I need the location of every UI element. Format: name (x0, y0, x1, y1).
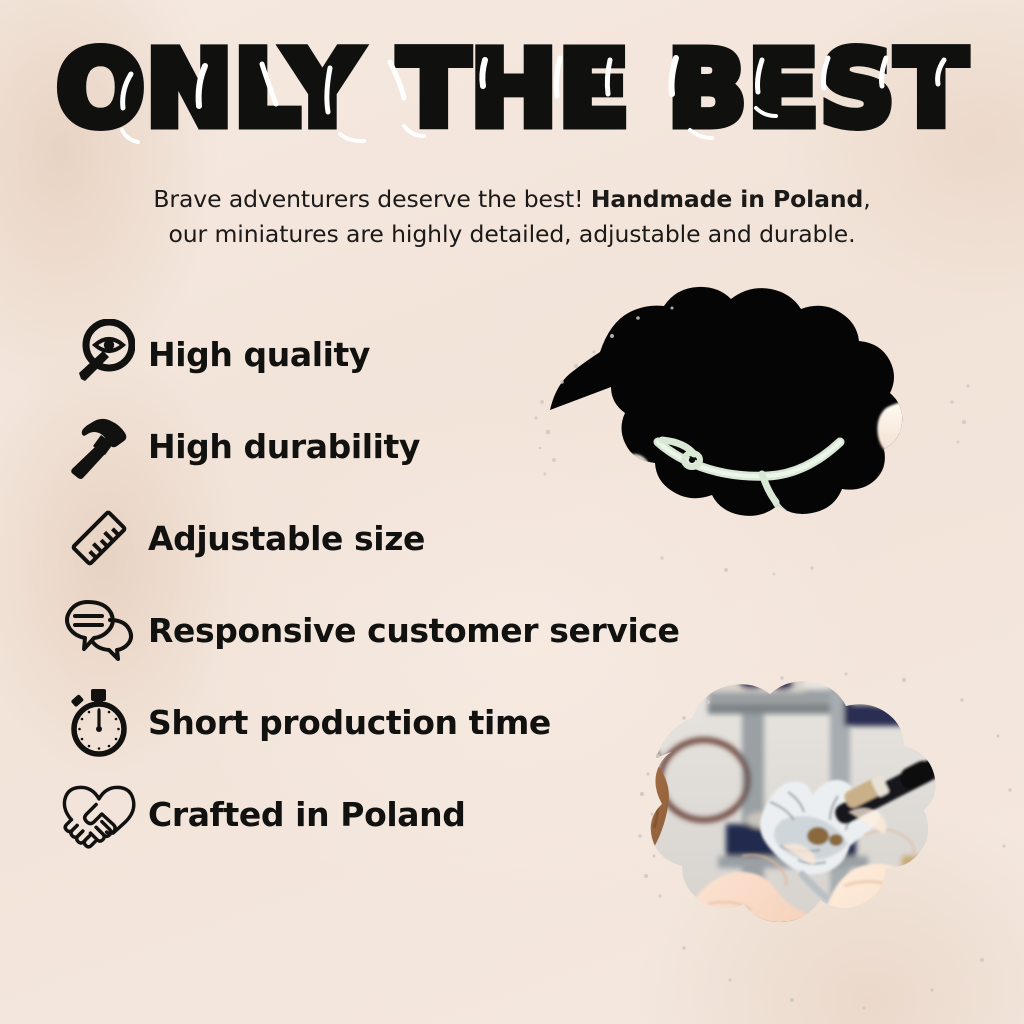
ruler-icon (60, 500, 138, 576)
feature-label: Crafted in Poland (148, 795, 465, 834)
feature-label: Adjustable size (148, 519, 425, 558)
stopwatch-icon (60, 684, 138, 760)
feature-label: High durability (148, 427, 420, 466)
magnifier-eye-icon (60, 316, 138, 392)
speech-bubbles-icon (60, 592, 138, 668)
subtitle-plain-1: Brave adventurers deserve the best! (153, 185, 590, 213)
subtitle: Brave adventurers deserve the best! Hand… (0, 182, 1024, 252)
subtitle-line-2: our miniatures are highly detailed, adju… (0, 217, 1024, 252)
subtitle-comma: , (863, 185, 870, 213)
feature-label: Short production time (148, 703, 551, 742)
photo-flexible-miniature (512, 282, 992, 582)
feature-label: High quality (148, 335, 370, 374)
promo-poster: ONLY THE BEST Brave adventurers deserve (0, 0, 1024, 1024)
hammer-icon (60, 408, 138, 484)
handshake-heart-icon (60, 776, 138, 852)
subtitle-bold-handmade: Handmade in Poland (591, 185, 863, 213)
feature-label: Responsive customer service (148, 611, 680, 650)
photo-workshop-hands (612, 660, 1024, 1024)
subtitle-line-1: Brave adventurers deserve the best! Hand… (0, 182, 1024, 217)
page-title: ONLY THE BEST (0, 34, 1024, 144)
